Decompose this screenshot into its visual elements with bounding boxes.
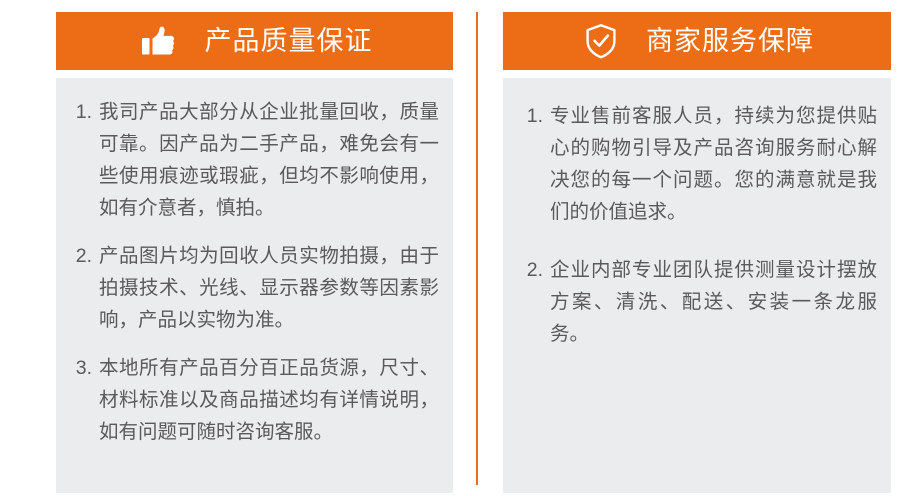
card-header-product-quality: 产品质量保证 — [56, 12, 453, 70]
list-item-index: 1. — [517, 100, 543, 132]
list-item: 2. 企业内部专业团队提供测量设计摆放方案、清洗、配送、安装一条龙服务。 — [517, 254, 877, 350]
list-item: 3. 本地所有产品百分百正品货源，尺寸、材料标准以及商品描述均有详情说明，如有问… — [66, 352, 439, 448]
card-header-merchant-service: 商家服务保障 — [503, 12, 891, 70]
list-item-index: 3. — [66, 352, 92, 384]
list-item: 2. 产品图片均为回收人员实物拍摄，由于拍摄技术、光线、显示器参数等因素影响，产… — [66, 240, 439, 336]
card-title: 产品质量保证 — [205, 28, 373, 55]
list-item-text: 本地所有产品百分百正品货源，尺寸、材料标准以及商品描述均有详情说明，如有问题可随… — [99, 352, 439, 448]
list-item-index: 1. — [66, 96, 92, 128]
list-item-text: 产品图片均为回收人员实物拍摄，由于拍摄技术、光线、显示器参数等因素影响，产品以实… — [99, 240, 439, 336]
shield-check-icon — [580, 20, 622, 62]
card-body-product-quality: 1. 我司产品大部分从企业批量回收，质量可靠。因产品为二手产品，难免会有一些使用… — [56, 78, 453, 493]
list-item: 1. 我司产品大部分从企业批量回收，质量可靠。因产品为二手产品，难免会有一些使用… — [66, 96, 439, 224]
section-divider — [476, 12, 478, 485]
guarantee-board: 产品质量保证 1. 我司产品大部分从企业批量回收，质量可靠。因产品为二手产品，难… — [0, 0, 921, 496]
list-item: 1. 专业售前客服人员，持续为您提供贴心的购物引导及产品咨询服务耐心解决您的每一… — [517, 100, 877, 228]
card-product-quality-guarantee: 产品质量保证 1. 我司产品大部分从企业批量回收，质量可靠。因产品为二手产品，难… — [56, 12, 453, 493]
list-item-index: 2. — [517, 254, 543, 286]
card-title: 商家服务保障 — [646, 28, 814, 55]
note-list-product-quality: 1. 我司产品大部分从企业批量回收，质量可靠。因产品为二手产品，难免会有一些使用… — [66, 96, 439, 448]
list-item-text: 企业内部专业团队提供测量设计摆放方案、清洗、配送、安装一条龙服务。 — [550, 254, 877, 350]
card-body-merchant-service: 1. 专业售前客服人员，持续为您提供贴心的购物引导及产品咨询服务耐心解决您的每一… — [503, 78, 891, 493]
list-item-index: 2. — [66, 240, 92, 272]
note-list-merchant-service: 1. 专业售前客服人员，持续为您提供贴心的购物引导及产品咨询服务耐心解决您的每一… — [517, 100, 877, 350]
list-item-text: 我司产品大部分从企业批量回收，质量可靠。因产品为二手产品，难免会有一些使用痕迹或… — [99, 96, 439, 224]
list-item-text: 专业售前客服人员，持续为您提供贴心的购物引导及产品咨询服务耐心解决您的每一个问题… — [550, 100, 877, 228]
card-merchant-service-guarantee: 商家服务保障 1. 专业售前客服人员，持续为您提供贴心的购物引导及产品咨询服务耐… — [503, 12, 891, 493]
thumbs-up-icon — [137, 20, 179, 62]
